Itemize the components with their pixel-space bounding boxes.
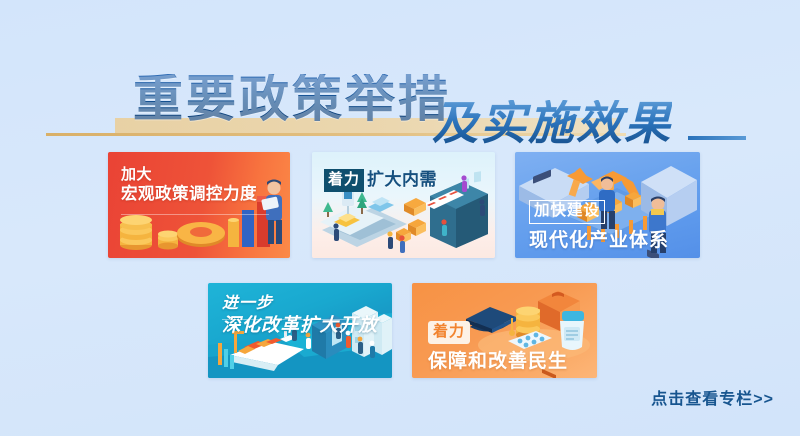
title-blue-rule	[688, 136, 746, 140]
page-title-block: 重要政策举措 及实施效果	[0, 38, 800, 118]
person-figure-icon	[441, 219, 447, 236]
card-deepen-reform[interactable]: 进一步 深化改革扩大开放	[208, 283, 392, 378]
card-modern-industry[interactable]: 加快建设 现代化产业体系	[515, 152, 700, 258]
card-improve-livelihood[interactable]: 着力 保障和改善民生	[412, 283, 597, 378]
page-title: 重要政策举措	[133, 74, 451, 124]
card-reform-line1: 进一步	[222, 295, 273, 312]
card-reform-line2: 深化改革扩大开放	[222, 314, 378, 335]
donut-chart-icon	[177, 222, 225, 247]
card-livelihood-line2: 保障和改善民生	[428, 350, 568, 373]
card-demand-artwork	[312, 152, 495, 258]
card-industry-line2: 现代化产业体系	[529, 229, 669, 252]
page-subtitle: 及实施效果	[432, 100, 672, 146]
tree-icon	[323, 202, 333, 217]
card-macro-line2: 宏观政策调控力度	[121, 185, 257, 203]
card-macro-line1: 加大	[121, 166, 152, 183]
person-figure-icon	[399, 235, 405, 253]
policy-infographic-page: 重要政策举措 及实施效果	[0, 0, 800, 436]
card-demand-label: 着力扩大内需	[324, 169, 437, 192]
person-figure-icon	[358, 337, 363, 354]
card-macro-divider	[121, 214, 269, 215]
person-figure-icon	[461, 175, 467, 192]
delivery-truck-icon	[404, 198, 426, 216]
card-demand-line1: 着力	[324, 169, 364, 192]
card-expand-demand[interactable]: 着力扩大内需	[312, 152, 495, 258]
person-figure-icon	[333, 223, 339, 241]
card-industry-line1: 加快建设	[529, 200, 605, 224]
coin-stack-small-icon	[158, 231, 178, 250]
card-livelihood-line1: 着力	[428, 321, 470, 344]
person-figure-icon	[387, 231, 393, 249]
shop-building-icon	[430, 171, 488, 248]
card-livelihood-label: 着力 保障和改善民生	[428, 321, 568, 373]
card-industry-label: 加快建设 现代化产业体系	[529, 200, 669, 252]
card-macro-policy[interactable]: 加大 宏观政策调控力度	[108, 152, 290, 258]
card-macro-label: 加大 宏观政策调控力度	[121, 166, 257, 205]
card-demand-line2: 扩大内需	[367, 170, 437, 191]
person-figure-icon	[479, 199, 485, 216]
view-column-link[interactable]: 点击查看专栏>>	[651, 385, 774, 409]
person-figure-icon	[370, 341, 375, 358]
coin-stack-icon	[120, 215, 152, 250]
card-reform-label: 进一步 深化改革扩大开放	[222, 294, 378, 336]
